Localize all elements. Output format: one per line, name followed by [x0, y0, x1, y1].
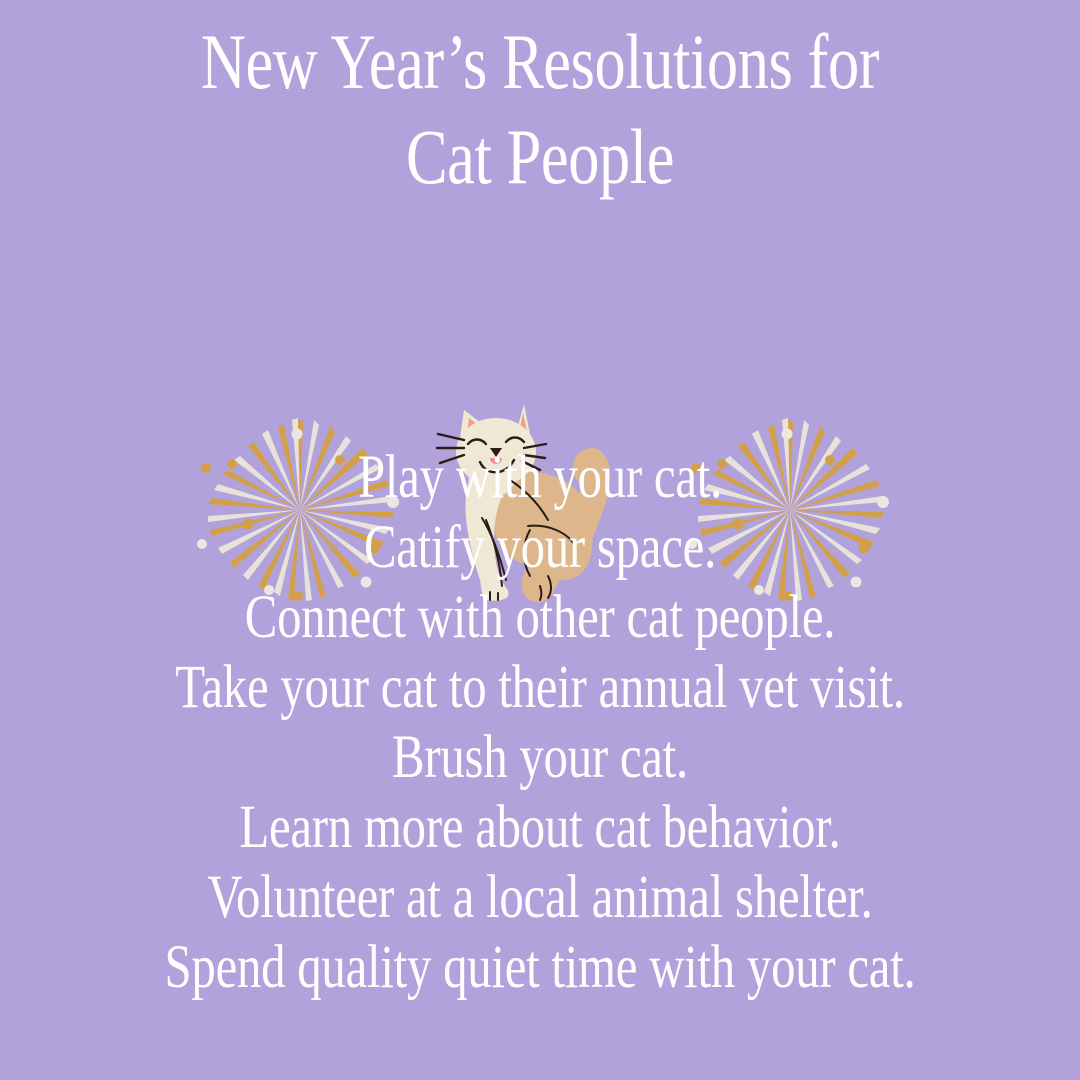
resolutions-list: Play with your cat. Catify your space. C… — [0, 443, 1080, 1003]
resolution-item: Volunteer at a local animal shelter. — [108, 863, 972, 933]
decoration-band — [0, 200, 1080, 430]
poster-canvas: New Year’s Resolutions for Cat People — [0, 0, 1080, 1080]
resolution-item: Take your cat to their annual vet visit. — [108, 653, 972, 723]
page-title: New Year’s Resolutions for Cat People — [0, 14, 1080, 204]
resolution-item: Catify your space. — [108, 513, 972, 583]
resolution-item: Learn more about cat behavior. — [108, 793, 972, 863]
title-line-1: New Year’s Resolutions for — [108, 14, 972, 109]
title-line-2: Cat People — [108, 109, 972, 204]
resolution-item: Spend quality quiet time with your cat. — [108, 933, 972, 1003]
resolution-item: Play with your cat. — [108, 443, 972, 513]
resolution-item: Connect with other cat people. — [108, 583, 972, 653]
resolution-item: Brush your cat. — [108, 723, 972, 793]
